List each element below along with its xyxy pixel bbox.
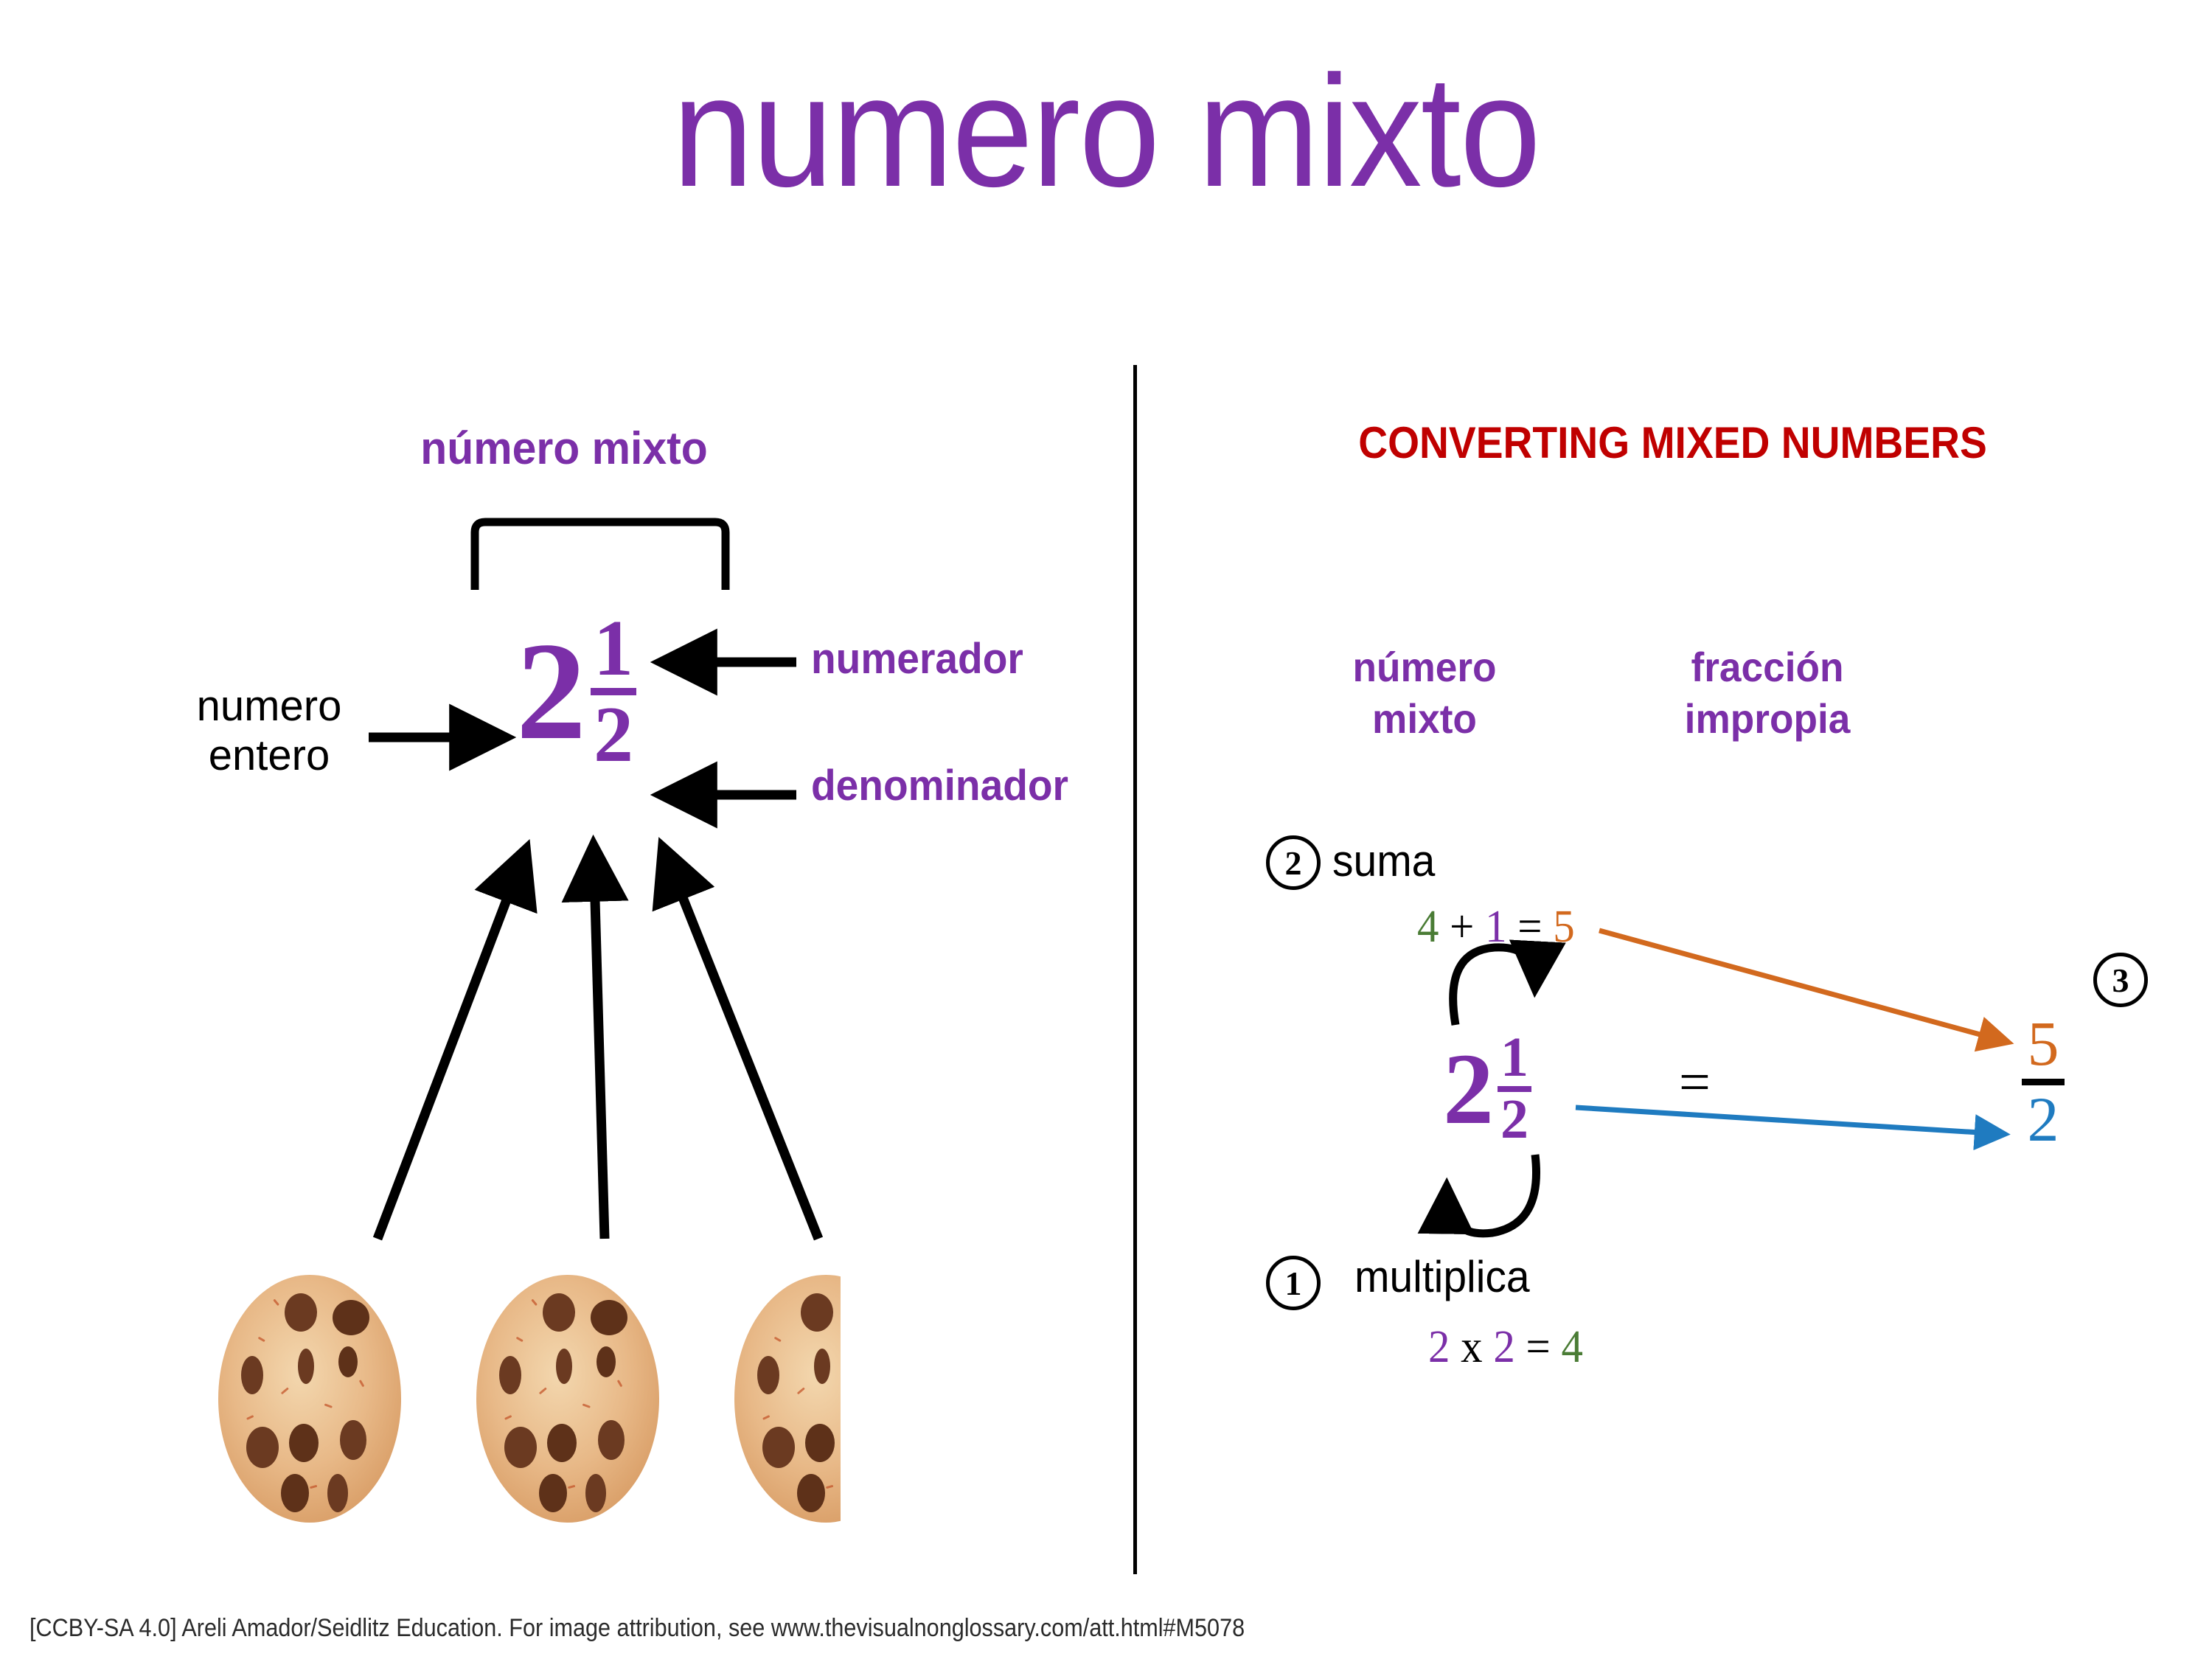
whole-number-digit: 2 bbox=[516, 633, 586, 752]
mixed-number-figure: 2 1 2 bbox=[516, 612, 636, 772]
eq-mult-result: 4 bbox=[1561, 1322, 1582, 1372]
left-panel-heading: número mixto bbox=[28, 422, 1100, 475]
eq-mult-op1: x bbox=[1450, 1322, 1493, 1372]
right-panel-heading: CONVERTING MIXED NUMBERS bbox=[1177, 417, 2169, 468]
cookie-icon bbox=[472, 1272, 664, 1530]
top-bracket-icon bbox=[470, 516, 730, 590]
step-label-suma: suma bbox=[1332, 835, 1435, 886]
conversion-whole-digit: 2 bbox=[1443, 1046, 1494, 1132]
eq-suma-equals: = bbox=[1507, 902, 1554, 952]
step-badge-2: 2 bbox=[1266, 835, 1321, 890]
column-header-mixed-line1: número bbox=[1309, 641, 1540, 693]
conversion-fraction-part: 1 2 bbox=[1498, 1032, 1531, 1146]
denominator-digit: 2 bbox=[594, 698, 633, 771]
eq-suma-term1: 4 bbox=[1417, 902, 1439, 952]
equation-multiplica: 2 x 2 = 4 bbox=[1428, 1321, 1583, 1374]
cookies-illustration bbox=[199, 1272, 936, 1567]
left-panel: número mixto 2 1 2 numerador denominador… bbox=[0, 0, 1133, 1659]
improper-fraction-result: 5 2 bbox=[2022, 1014, 2065, 1150]
improper-numerator-digit: 5 bbox=[2028, 1014, 2059, 1074]
equals-sign: = bbox=[1679, 1051, 1711, 1115]
equation-suma: 4 + 1 = 5 bbox=[1417, 901, 1575, 953]
conversion-numerator-digit: 1 bbox=[1500, 1032, 1528, 1084]
conversion-mixed-number: 2 1 2 bbox=[1443, 1032, 1531, 1146]
eq-mult-term2: 2 bbox=[1493, 1322, 1514, 1372]
right-panel: CONVERTING MIXED NUMBERS número mixto fr… bbox=[1133, 0, 2212, 1659]
step-badge-1: 1 bbox=[1266, 1256, 1321, 1310]
footer-attribution: [CCBY-SA 4.0] Areli Amador/Seidlitz Educ… bbox=[29, 1614, 1245, 1643]
label-numero-entero: numero entero bbox=[159, 682, 380, 780]
column-header-mixed-line2: mixto bbox=[1309, 693, 1540, 745]
half-cookie-icon bbox=[730, 1272, 841, 1530]
step-label-multiplica: multiplica bbox=[1354, 1251, 1530, 1302]
step-badge-3: 3 bbox=[2093, 953, 2148, 1007]
half-cookie-body bbox=[730, 1272, 841, 1530]
eq-suma-term2: 1 bbox=[1485, 902, 1506, 952]
conversion-denominator-digit: 2 bbox=[1500, 1094, 1528, 1146]
eq-suma-result: 5 bbox=[1553, 902, 1574, 952]
column-header-improper-line2: impropia bbox=[1641, 693, 1893, 745]
label-denominador: denominador bbox=[811, 761, 1068, 810]
eq-mult-equals: = bbox=[1515, 1322, 1562, 1372]
improper-denominator-digit: 2 bbox=[2028, 1090, 2059, 1150]
label-numero-entero-line1: numero bbox=[159, 682, 380, 731]
column-header-mixed-number: número mixto bbox=[1309, 641, 1540, 745]
label-numerador: numerador bbox=[811, 634, 1023, 684]
right-panel-arrows bbox=[1133, 0, 2212, 1659]
eq-suma-op1: + bbox=[1439, 902, 1485, 952]
cookie-icon bbox=[214, 1272, 406, 1530]
fraction-part: 1 2 bbox=[591, 612, 636, 772]
label-numero-entero-line2: entero bbox=[159, 731, 380, 781]
column-header-improper-line1: fracción bbox=[1641, 641, 1893, 693]
numerator-digit: 1 bbox=[594, 612, 633, 685]
eq-mult-term1: 2 bbox=[1428, 1322, 1450, 1372]
column-header-improper-fraction: fracción impropia bbox=[1641, 641, 1893, 745]
